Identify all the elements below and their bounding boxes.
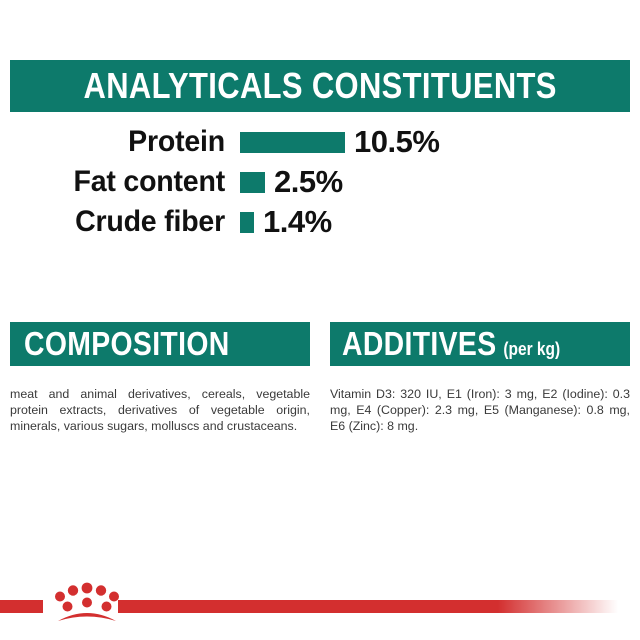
footer-brand-bar [0,578,640,640]
additives-title-main: ADDITIVES [342,325,496,363]
nutrient-bar-group-fat-content: 2.5% [240,164,343,200]
composition-title: COMPOSITION [24,325,230,363]
additives-body-text: Vitamin D3: 320 IU, E1 (Iron): 3 mg, E2 … [330,386,630,434]
footer-red-bar-right [118,600,618,613]
nutrient-row-crude-fiber: Crude fiber 1.4% [0,202,640,242]
analyticals-constituents-title: ANALYTICALS CONSTITUENTS [83,65,556,107]
nutrient-label-protein: Protein [11,125,225,159]
additives-per-kg-label: (per kg) [503,339,560,360]
analyticals-constituents-header: ANALYTICALS CONSTITUENTS [10,60,630,112]
nutrient-bar-crude-fiber [240,212,254,233]
nutrient-bar-group-protein: 10.5% [240,124,439,160]
nutrient-row-fat-content: Fat content 2.5% [0,162,640,202]
composition-header: COMPOSITION [10,322,310,366]
nutrient-value-protein: 10.5% [354,124,439,160]
nutrient-label-crude-fiber: Crude fiber [11,205,225,239]
nutrient-value-crude-fiber: 1.4% [263,204,332,240]
nutrient-value-fat-content: 2.5% [274,164,343,200]
additives-header: ADDITIVES (per kg) [330,322,630,366]
composition-body-text: meat and animal derivatives, cereals, ve… [10,386,310,434]
nutrient-bar-protein [240,132,345,153]
additives-title: ADDITIVES (per kg) [342,325,560,363]
royal-canin-crown-icon [50,578,124,628]
nutrient-bar-group-crude-fiber: 1.4% [240,204,332,240]
footer-red-bar-left [0,600,43,613]
nutrient-label-fat-content: Fat content [11,165,225,199]
nutrient-bar-fat-content [240,172,265,193]
analyticals-constituents-chart: Protein 10.5% Fat content 2.5% Crude fib… [0,122,640,242]
nutrient-row-protein: Protein 10.5% [0,122,640,162]
